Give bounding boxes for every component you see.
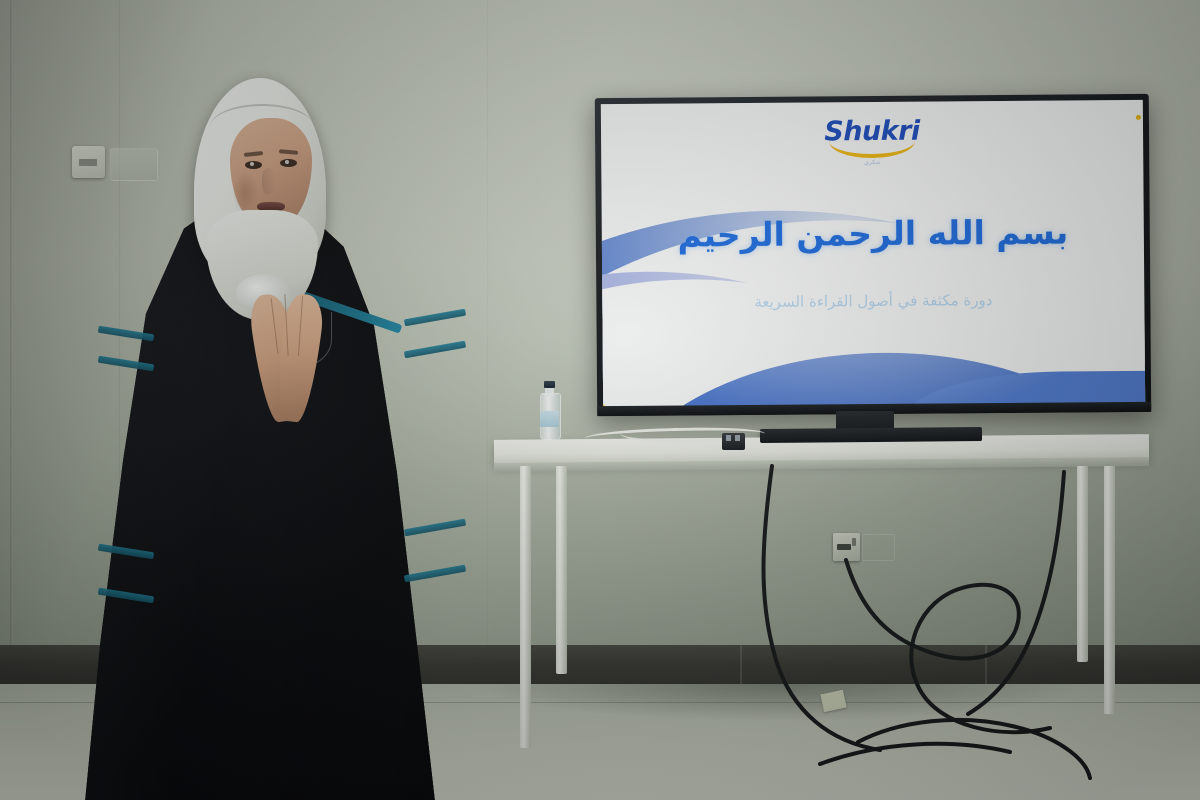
logo-wordmark: Shukri: [824, 118, 920, 146]
table-leg: [1104, 466, 1115, 714]
wall-seam: [487, 0, 489, 678]
power-adapter-icon: [722, 433, 745, 450]
logo-tagline: شكري: [601, 157, 1143, 168]
wall-seam: [10, 0, 13, 660]
robe-trim-stripe: [404, 341, 466, 359]
baseboard-joint: [985, 645, 987, 687]
eye-highlight: [250, 162, 254, 166]
eye-highlight: [285, 160, 289, 164]
slide-title: بسم الله الرحمن الرحيم: [602, 212, 1144, 255]
robe-trim-stripe: [404, 565, 466, 583]
photo-scene: Shukri شكري بسم الله الرحمن الرحيم دورة …: [0, 0, 1200, 800]
bottle-label: [540, 411, 559, 427]
bottle-cap: [544, 381, 555, 388]
television: Shukri شكري بسم الله الرحمن الرحيم دورة …: [595, 94, 1151, 416]
robe-trim-stripe: [404, 519, 466, 537]
face-shading: [232, 170, 258, 214]
wall-plate-outline: [862, 534, 895, 561]
presenter-hands: [256, 294, 328, 424]
water-bottle: [540, 381, 559, 438]
floor-shadow: [430, 684, 1130, 754]
baseboard-joint: [740, 645, 742, 687]
nose: [262, 168, 275, 194]
table-leg: [556, 466, 567, 674]
slide-logo: Shukri شكري: [601, 116, 1143, 168]
logo-dot-icon: [1136, 115, 1141, 120]
table-leg: [520, 466, 531, 748]
table-leg: [1077, 466, 1088, 662]
robe-trim-stripe: [404, 309, 466, 327]
soundbar: [760, 427, 982, 443]
tv-screen: Shukri شكري بسم الله الرحمن الرحيم دورة …: [601, 100, 1145, 407]
wall-socket-icon: [833, 533, 860, 561]
bottle-neck: [545, 387, 554, 396]
presenter: [60, 60, 480, 800]
